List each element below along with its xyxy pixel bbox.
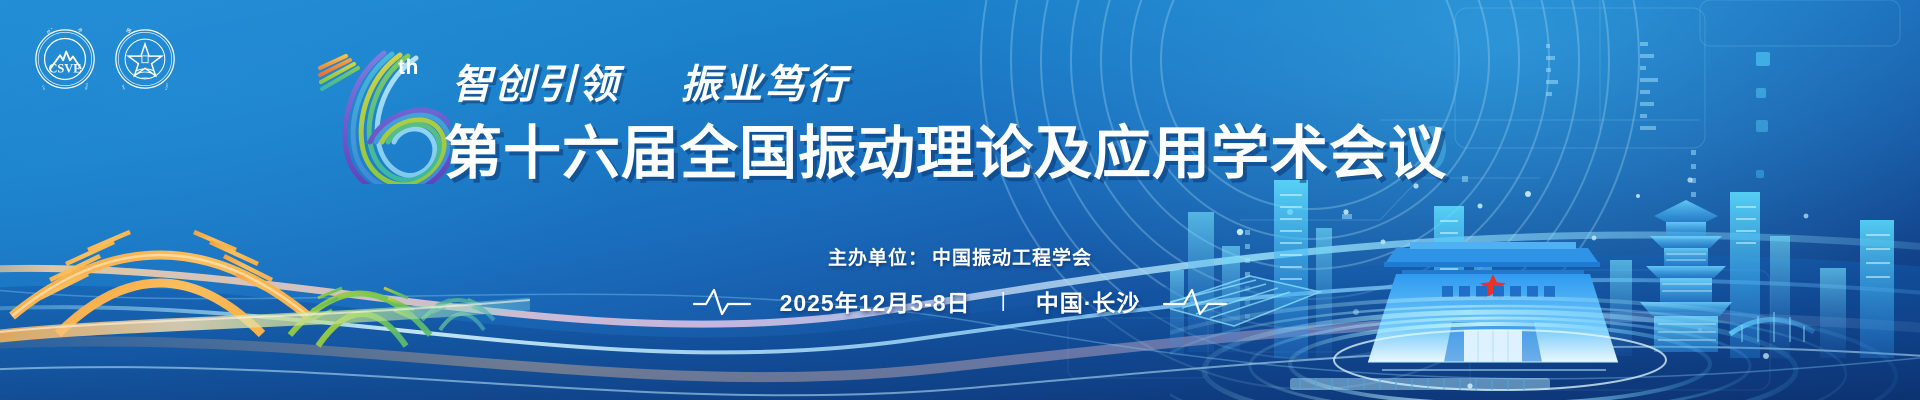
conference-banner: CSVE 中国振动工程学会 CHINESE SOCIETY FOR VIBRAT… [0, 0, 1920, 400]
page-title: 第十六届全国振动理论及应用学术会议 [444, 106, 1447, 190]
edition-number-graphic [300, 44, 450, 184]
event-date: 2025年12月5-8日 [780, 284, 971, 318]
slogan-part-2: 振业笃行 [680, 63, 848, 107]
event-separator: | [987, 290, 1020, 313]
event-info-bar: 2025年12月5-8日 | 中国·长沙 [0, 284, 1920, 318]
organizer-label: 主办单位： [828, 248, 928, 269]
banner-content: th 智创引领 振业笃行 第十六届全国振动理论及应用学术会议 主办单位：中国振动… [0, 0, 1920, 400]
pulse-waveform-left-icon [692, 284, 764, 318]
organizer-line: 主办单位：中国振动工程学会 [0, 243, 1920, 270]
event-location: 中国·长沙 [1036, 284, 1141, 318]
edition-suffix: th [398, 56, 419, 80]
conference-slogan: 智创引领 振业笃行 [452, 52, 848, 110]
slogan-part-1: 智创引领 [452, 63, 620, 107]
pulse-waveform-right-icon [1156, 284, 1228, 318]
organizer-name: 中国振动工程学会 [932, 248, 1092, 269]
